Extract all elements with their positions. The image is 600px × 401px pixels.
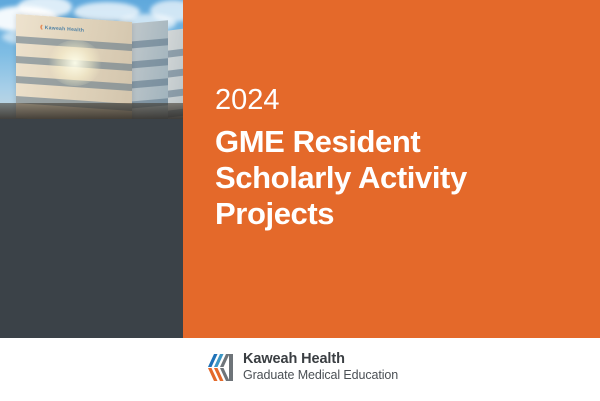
page-title: GME Resident Scholarly Activity Projects <box>215 124 585 232</box>
logo-organization-name: Kaweah Health <box>243 352 398 367</box>
headline-block: 2024 GME Resident Scholarly Activity Pro… <box>215 86 585 232</box>
building-signage: ⟪ Kaweah Health <box>40 25 84 34</box>
title-line-1: GME Resident <box>215 124 585 160</box>
footer-bar: Kaweah Health Graduate Medical Education <box>0 338 600 401</box>
left-media-column: ⟪ Kaweah Health <box>0 0 183 338</box>
sun-glare <box>48 40 102 86</box>
logo-lockup: Kaweah Health Graduate Medical Education <box>207 352 398 383</box>
kaweah-chevron-mark-icon <box>207 353 238 382</box>
title-line-2: Scholarly Activity <box>215 160 585 196</box>
title-line-3: Projects <box>215 196 585 232</box>
logo-department-name: Graduate Medical Education <box>243 368 398 382</box>
building-photo: ⟪ Kaweah Health <box>0 0 183 119</box>
foreground-shadow <box>0 103 183 119</box>
page-year: 2024 <box>215 86 585 115</box>
title-slide: ⟪ Kaweah Health 2024 GME Resident Schola… <box>0 0 600 401</box>
logo-wordmark: Kaweah Health Graduate Medical Education <box>243 352 398 383</box>
